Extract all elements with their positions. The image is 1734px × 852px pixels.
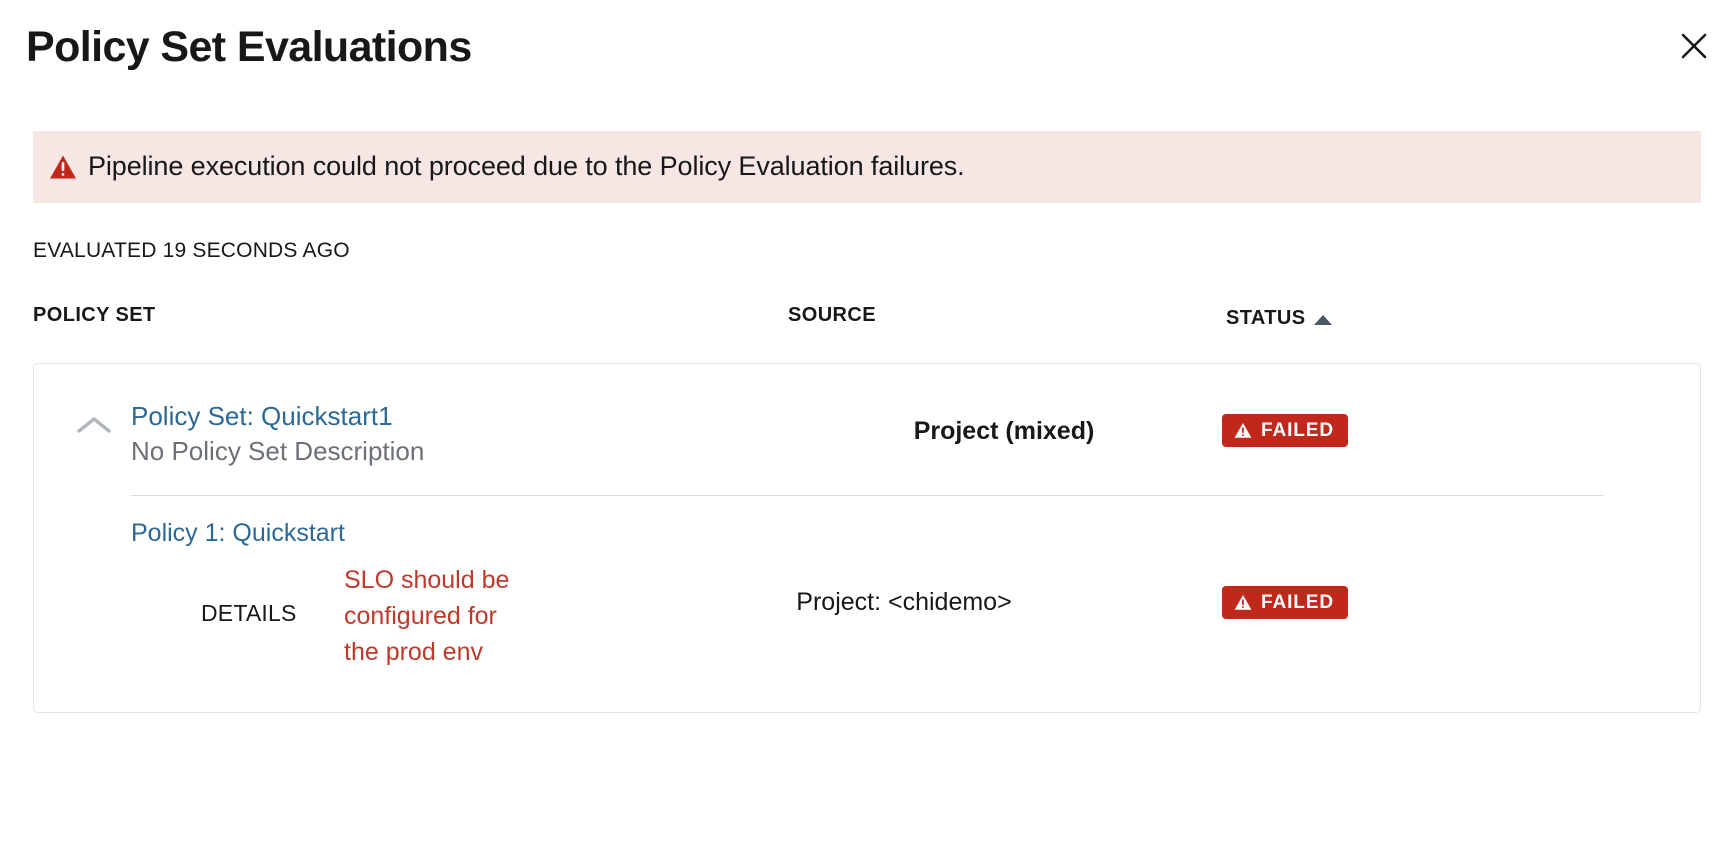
details-message: SLO should be configured for the prod en… [344, 562, 529, 670]
badge-warning-icon [1234, 422, 1252, 439]
status-badge: FAILED [1222, 414, 1348, 447]
chevron-up-icon[interactable] [72, 408, 116, 442]
row-divider [131, 495, 1604, 496]
policy-source: Project: <chidemo> [684, 588, 1124, 617]
badge-warning-icon [1234, 594, 1252, 611]
column-header-status[interactable]: STATUS [1226, 307, 1332, 330]
table-row: Policy Set: Quickstart1 No Policy Set De… [34, 364, 1700, 494]
column-header-policy-set: POLICY SET [33, 304, 156, 327]
sort-ascending-caret-icon [1314, 315, 1332, 325]
details-label: DETAILS [201, 600, 297, 627]
policy-link[interactable]: Policy 1: Quickstart [131, 519, 345, 548]
page-title: Policy Set Evaluations [26, 26, 472, 69]
table-row: Policy 1: Quickstart DETAILS SLO should … [34, 504, 1700, 704]
policy-set-link[interactable]: Policy Set: Quickstart1 [131, 400, 393, 433]
policy-set-source: Project (mixed) [794, 417, 1214, 446]
column-header-status-label: STATUS [1226, 307, 1305, 330]
status-badge-label: FAILED [1261, 421, 1334, 440]
warning-triangle-icon [48, 152, 78, 182]
close-icon[interactable] [1672, 24, 1716, 68]
modal-header: Policy Set Evaluations [0, 0, 1734, 112]
error-alert-banner: Pipeline execution could not proceed due… [33, 131, 1701, 203]
policy-set-evaluations-modal: Policy Set Evaluations Pipeline executio… [0, 0, 1734, 852]
status-badge-label: FAILED [1261, 593, 1334, 612]
evaluated-timestamp: EVALUATED 19 SECONDS AGO [33, 239, 350, 263]
alert-message: Pipeline execution could not proceed due… [88, 152, 965, 182]
policy-set-description: No Policy Set Description [131, 435, 424, 468]
status-badge: FAILED [1222, 586, 1348, 619]
column-header-source: SOURCE [788, 304, 876, 327]
policy-set-table: Policy Set: Quickstart1 No Policy Set De… [33, 363, 1701, 713]
table-header-row: POLICY SET SOURCE STATUS [33, 300, 1701, 340]
